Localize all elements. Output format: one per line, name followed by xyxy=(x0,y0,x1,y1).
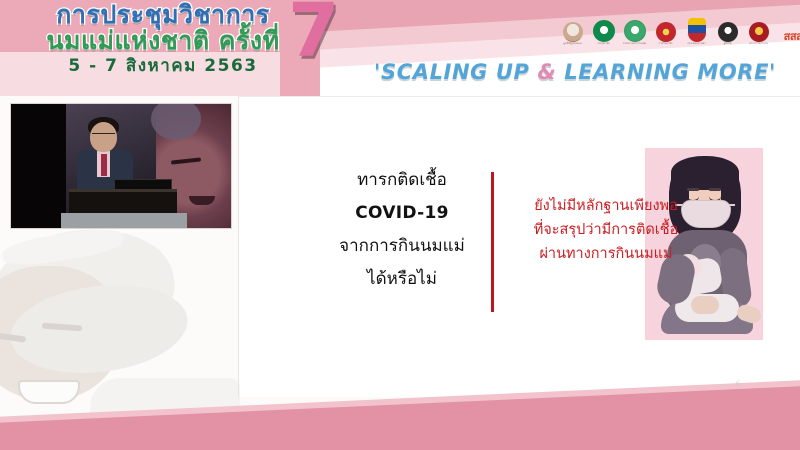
conference-title-line1: การประชุมวิชาการ xyxy=(18,2,308,27)
slide-screenshot: การประชุมวิชาการ นมแม่แห่งชาติ ครั้งที่ … xyxy=(0,0,800,450)
stage-dark-area xyxy=(11,104,66,228)
thai-emblem-logo: กรุงเทพมหานคร xyxy=(684,18,709,46)
question-line-4: ได้หรือไม่ xyxy=(322,267,482,291)
mother-brow-right xyxy=(709,188,721,191)
mother-hand xyxy=(691,296,719,314)
question-text-block: ทารกติดเชื้อ COVID-19 จากการกินนมแม่ ได้… xyxy=(322,168,482,301)
department-health-logo: กระทรวงสาธารณสุข xyxy=(622,18,647,46)
conference-header-banner: การประชุมวิชาการ นมแม่แห่งชาติ ครั้งที่ … xyxy=(0,0,800,96)
speaker-glasses-icon xyxy=(92,133,115,139)
unicef-thailand-icon xyxy=(718,22,738,42)
thaihealth-sss-icon: สสส xyxy=(777,29,800,46)
red-seal-icon xyxy=(749,22,769,42)
podium-top xyxy=(61,213,187,229)
thaihealth-sss-logo: สสส xyxy=(777,18,800,46)
answer-line-3: ผ่านทางการกินนมแม่ xyxy=(498,244,714,266)
page-number: 6 xyxy=(736,379,740,388)
child-smile xyxy=(18,380,80,404)
red-vertical-divider xyxy=(491,172,494,312)
mother-brow-left xyxy=(687,188,699,191)
answer-line-1: ยังไม่มีหลักฐานเพียงพอ xyxy=(498,196,714,218)
question-line-2: COVID-19 xyxy=(322,201,482,225)
logo-caption: กระทรวงสาธารณสุข xyxy=(623,43,646,46)
royal-college-icon xyxy=(656,22,676,42)
subtitle-prefix: 'SCALING UP xyxy=(374,60,538,84)
royal-patronage-logo: มูลนิธิศูนย์นมแม่ xyxy=(560,18,585,46)
conference-subtitle: 'SCALING UP & LEARNING MORE' xyxy=(360,60,790,84)
conference-title: การประชุมวิชาการ นมแม่แห่งชาติ ครั้งที่ … xyxy=(18,2,308,75)
logo-caption: กรุงเทพมหานคร xyxy=(687,43,705,46)
speaker-video-inset[interactable] xyxy=(10,103,232,229)
answer-line-2: ที่จะสรุปว่ามีการติดเชื้อ xyxy=(498,220,714,242)
logo-caption: สภาการพยาบาล xyxy=(749,43,768,46)
thai-emblem-icon xyxy=(688,18,706,42)
conference-title-line2: นมแม่แห่งชาติ ครั้งที่ xyxy=(18,28,308,53)
mother-hair-front xyxy=(671,156,739,190)
logo-caption: มูลนิธิศูนย์นมแม่ xyxy=(563,43,581,46)
royal-patronage-icon xyxy=(563,22,583,42)
red-seal-logo: สภาการพยาบาล xyxy=(746,18,771,46)
answer-text-block: ยังไม่มีหลักฐานเพียงพอ ที่จะสรุปว่ามีการ… xyxy=(498,196,714,267)
royal-college-logo: ราชวิทยาลัย xyxy=(653,18,678,46)
conference-edition-number: 7 xyxy=(288,0,340,68)
question-line-1: ทารกติดเชื้อ xyxy=(322,168,482,192)
conference-date: 5 - 7 สิงหาคม 2563 xyxy=(18,58,308,75)
question-line-3: จากการกินนมแม่ xyxy=(322,234,482,258)
smiling-child-watermark xyxy=(0,228,244,413)
speaker-tie xyxy=(101,154,107,176)
sponsor-logo-strip: มูลนิธิศูนย์นมแม่ กรมอนามัย กระทรวงสาธาร… xyxy=(560,18,800,46)
subtitle-suffix: LEARNING MORE' xyxy=(556,60,776,84)
ministry-public-health-logo: กรมอนามัย xyxy=(591,18,616,46)
ministry-public-health-icon xyxy=(593,20,615,42)
logo-caption: กรมอนามัย xyxy=(597,43,610,46)
subtitle-ampersand: & xyxy=(537,60,556,84)
logo-caption: ยูนิเซฟ xyxy=(724,43,732,46)
department-health-icon xyxy=(624,20,646,42)
unicef-thailand-logo: ยูนิเซฟ xyxy=(715,18,740,46)
logo-caption: ราชวิทยาลัย xyxy=(659,43,673,46)
